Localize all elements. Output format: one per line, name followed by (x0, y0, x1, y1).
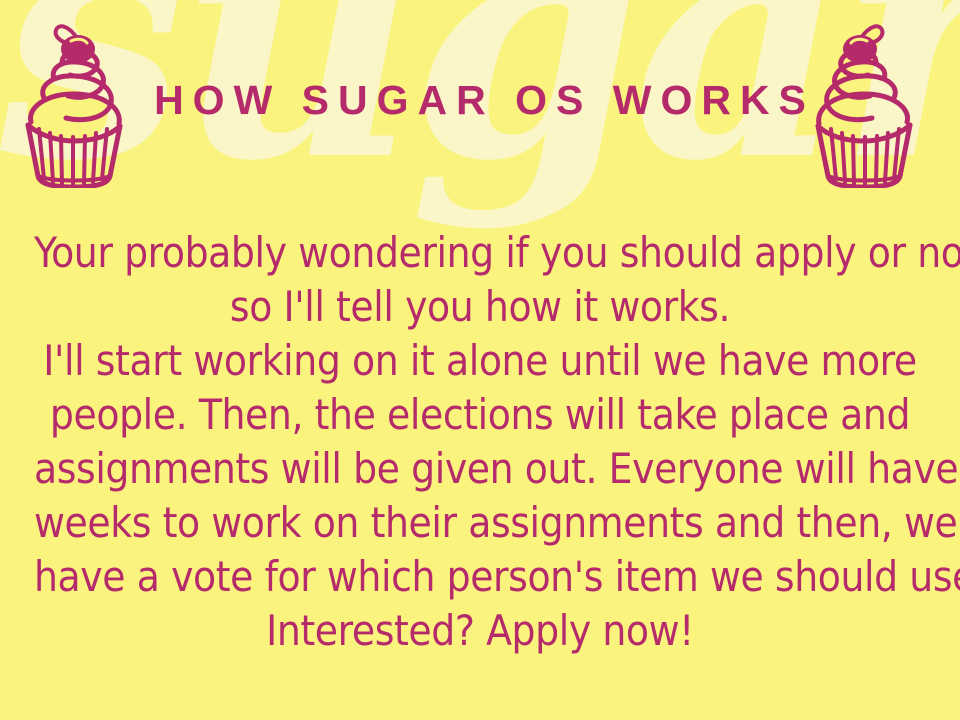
paragraph-line: Interested? Apply now! (34, 604, 926, 658)
paragraph-line: people. Then, the elections will take pl… (34, 388, 926, 442)
poster-canvas: sugar (0, 0, 960, 720)
page-title: HOW SUGAR OS WORKS (0, 79, 960, 121)
paragraph-line: have a vote for which person's item we s… (34, 550, 926, 604)
paragraph-line: I'll start working on it alone until we … (34, 334, 926, 388)
paragraph-line: weeks to work on their assignments and t… (34, 496, 926, 550)
paragraph-line: Your probably wondering if you should ap… (34, 226, 926, 280)
body-paragraph: Your probably wondering if you should ap… (34, 226, 926, 658)
paragraph-line: so I'll tell you how it works. (34, 280, 926, 334)
paragraph-line: assignments will be given out. Everyone … (34, 442, 926, 496)
